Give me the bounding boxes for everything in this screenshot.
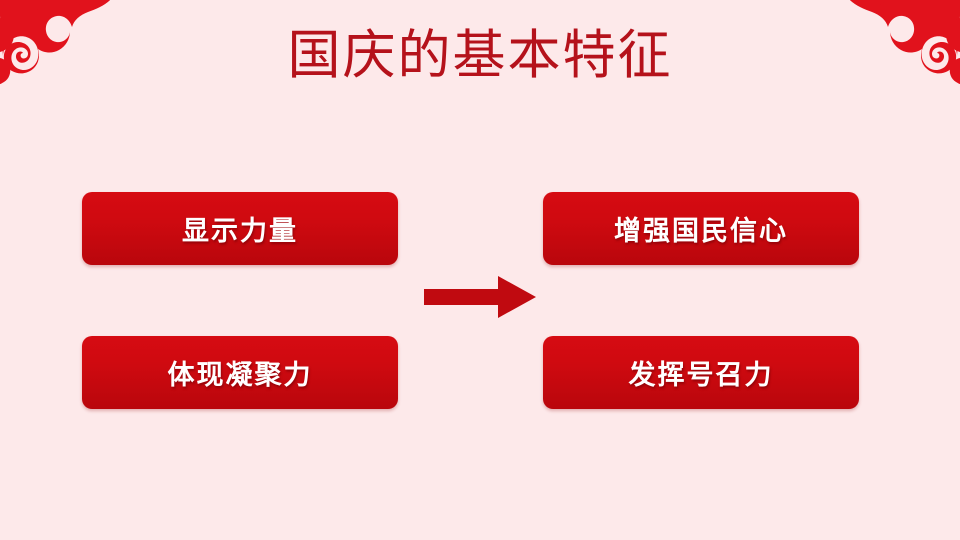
diagram-box-label: 增强国民信心 [614, 209, 788, 248]
diagram-box-label: 显示力量 [182, 209, 298, 248]
diagram-box-exert-appeal[interactable]: 发挥号召力 [543, 336, 859, 409]
diagram-box-show-strength[interactable]: 显示力量 [82, 192, 398, 265]
presentation-slide: 国庆的基本特征 显示力量 体现凝聚力 增强国民信心 发挥号召力 [0, 0, 960, 540]
arrow-right-icon [424, 276, 536, 318]
diagram-box-label: 体现凝聚力 [168, 353, 313, 392]
diagram-box-enhance-confidence[interactable]: 增强国民信心 [543, 192, 859, 265]
diagram-box-embody-cohesion[interactable]: 体现凝聚力 [82, 336, 398, 409]
diagram-box-label: 发挥号召力 [629, 353, 774, 392]
slide-title: 国庆的基本特征 [0, 22, 960, 90]
